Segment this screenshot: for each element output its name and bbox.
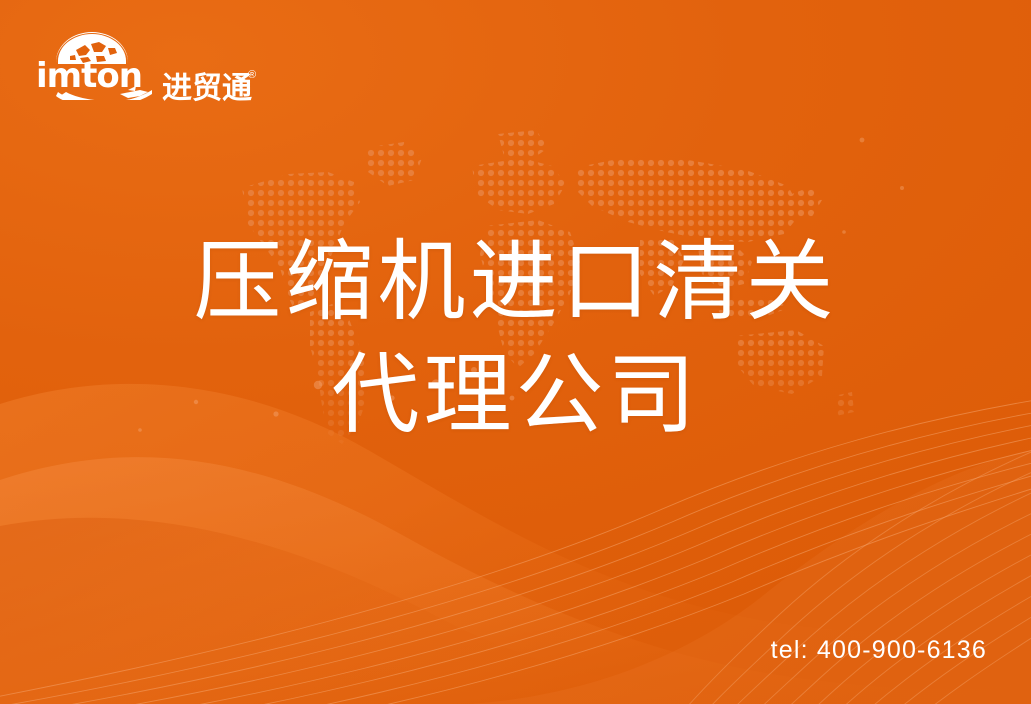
- svg-text:imton: imton: [36, 56, 142, 96]
- logo-mark: imton 进贸通 ®: [36, 28, 204, 100]
- brand-logo[interactable]: imton 进贸通 ®: [36, 28, 204, 100]
- headline-line-2: 代理公司: [0, 339, 1031, 452]
- logo-chinese-text: 进贸通: [162, 74, 252, 104]
- contact-telephone[interactable]: tel: 400-900-6136: [771, 636, 987, 665]
- promo-banner: imton 进贸通 ® 压缩机进口清关 代理公司 tel: 400-900-61…: [0, 0, 1031, 704]
- headline-line-1: 压缩机进口清关: [0, 226, 1031, 339]
- registered-mark: ®: [248, 70, 256, 81]
- page-title: 压缩机进口清关 代理公司: [0, 226, 1031, 451]
